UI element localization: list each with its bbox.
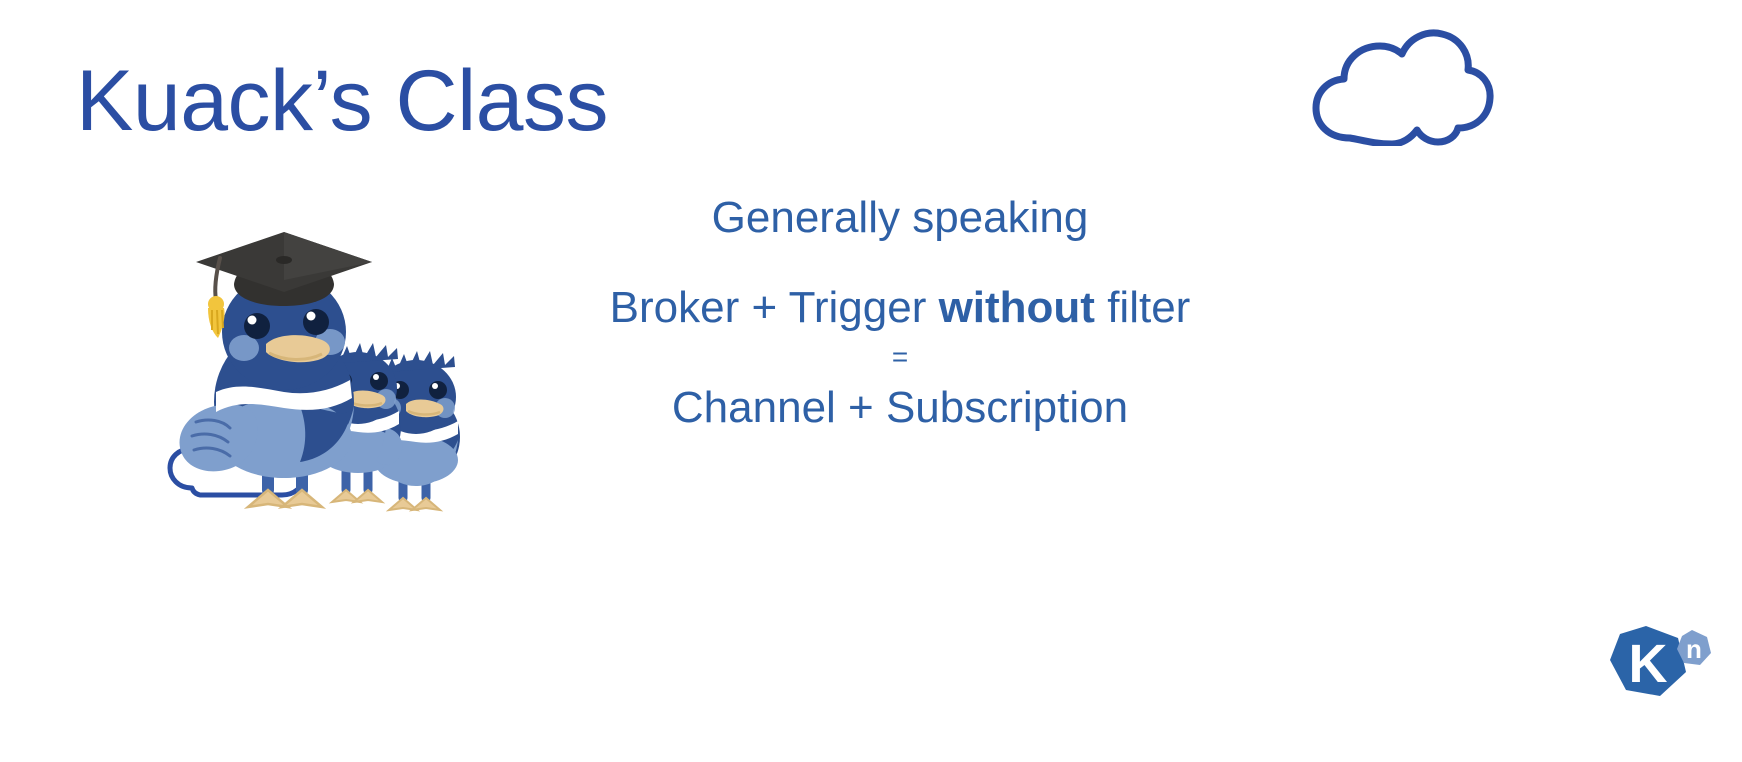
logo-letter-n: n xyxy=(1686,634,1702,664)
body-line-channel-subscription: Channel + Subscription xyxy=(520,385,1280,431)
equals-sign: = xyxy=(520,343,1280,371)
knative-logo: K n xyxy=(1598,598,1718,718)
body-line-broker-trigger: Broker + Trigger without filter xyxy=(520,285,1280,331)
broker-trigger-suffix: filter xyxy=(1095,283,1190,332)
cloud-outline-icon xyxy=(1308,28,1498,146)
body-line-generally-speaking: Generally speaking xyxy=(520,195,1280,241)
graduate-bird-with-chicks-illustration xyxy=(150,222,510,522)
without-emphasis: without xyxy=(939,283,1095,332)
slide-body: Generally speaking Broker + Trigger with… xyxy=(520,195,1280,432)
broker-trigger-prefix: Broker + Trigger xyxy=(610,283,939,332)
logo-letter-k: K xyxy=(1629,634,1668,694)
slide-canvas: Kuack’s Class xyxy=(0,0,1742,762)
page-title: Kuack’s Class xyxy=(76,58,608,144)
